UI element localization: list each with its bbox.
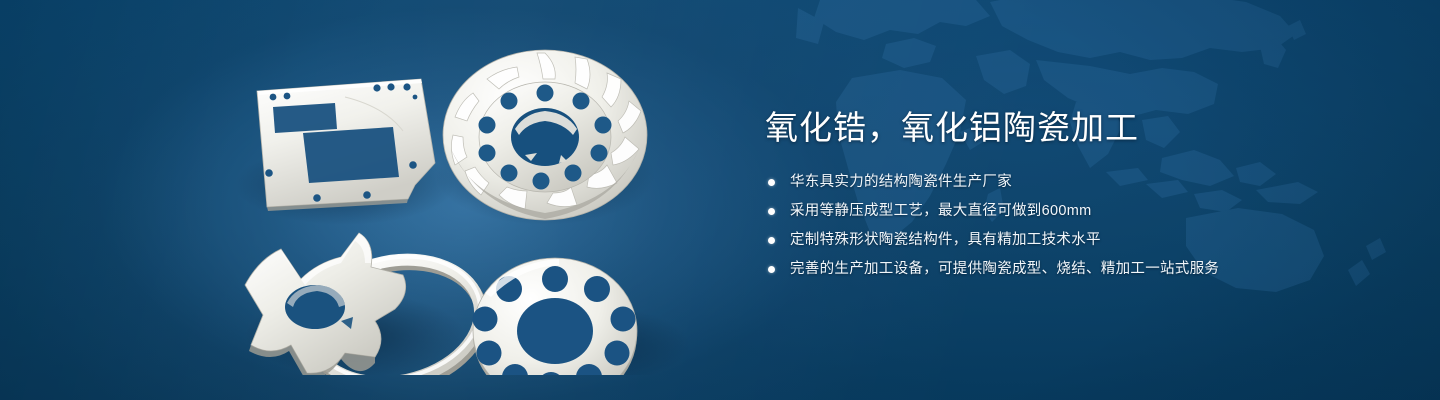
list-item: 定制特殊形状陶瓷结构件，具有精加工技术水平 xyxy=(768,230,1385,251)
ceramic-impeller xyxy=(443,50,647,220)
list-item-label: 完善的生产加工设备，可提供陶瓷成型、烧结、精加工一站式服务 xyxy=(790,261,1219,277)
banner-headline: 氧化锆，氧化铝陶瓷加工 xyxy=(765,108,1385,148)
bullet-dot-icon xyxy=(768,208,775,215)
list-item-label: 定制特殊形状陶瓷结构件，具有精加工技术水平 xyxy=(790,232,1101,248)
bullet-dot-icon xyxy=(768,237,775,244)
list-item: 华东具实力的结构陶瓷件生产厂家 xyxy=(768,172,1385,193)
bullet-dot-icon xyxy=(768,266,775,273)
ceramic-products-photo xyxy=(225,35,715,375)
list-item-label: 华东具实力的结构陶瓷件生产厂家 xyxy=(790,174,1012,190)
product-banner: 氧化锆，氧化铝陶瓷加工 华东具实力的结构陶瓷件生产厂家 采用等静压成型工艺，最大… xyxy=(0,0,1440,400)
banner-copy: 氧化锆，氧化铝陶瓷加工 华东具实力的结构陶瓷件生产厂家 采用等静压成型工艺，最大… xyxy=(765,108,1385,280)
list-item: 采用等静压成型工艺，最大直径可做到600mm xyxy=(768,201,1385,222)
list-item-label: 采用等静压成型工艺，最大直径可做到600mm xyxy=(790,203,1091,219)
bullet-dot-icon xyxy=(768,179,775,186)
feature-list: 华东具实力的结构陶瓷件生产厂家 采用等静压成型工艺，最大直径可做到600mm 定… xyxy=(768,172,1385,280)
ceramic-perforated-disc xyxy=(473,258,638,375)
ceramic-mounting-plate xyxy=(257,79,435,211)
list-item: 完善的生产加工设备，可提供陶瓷成型、烧结、精加工一站式服务 xyxy=(768,259,1385,280)
